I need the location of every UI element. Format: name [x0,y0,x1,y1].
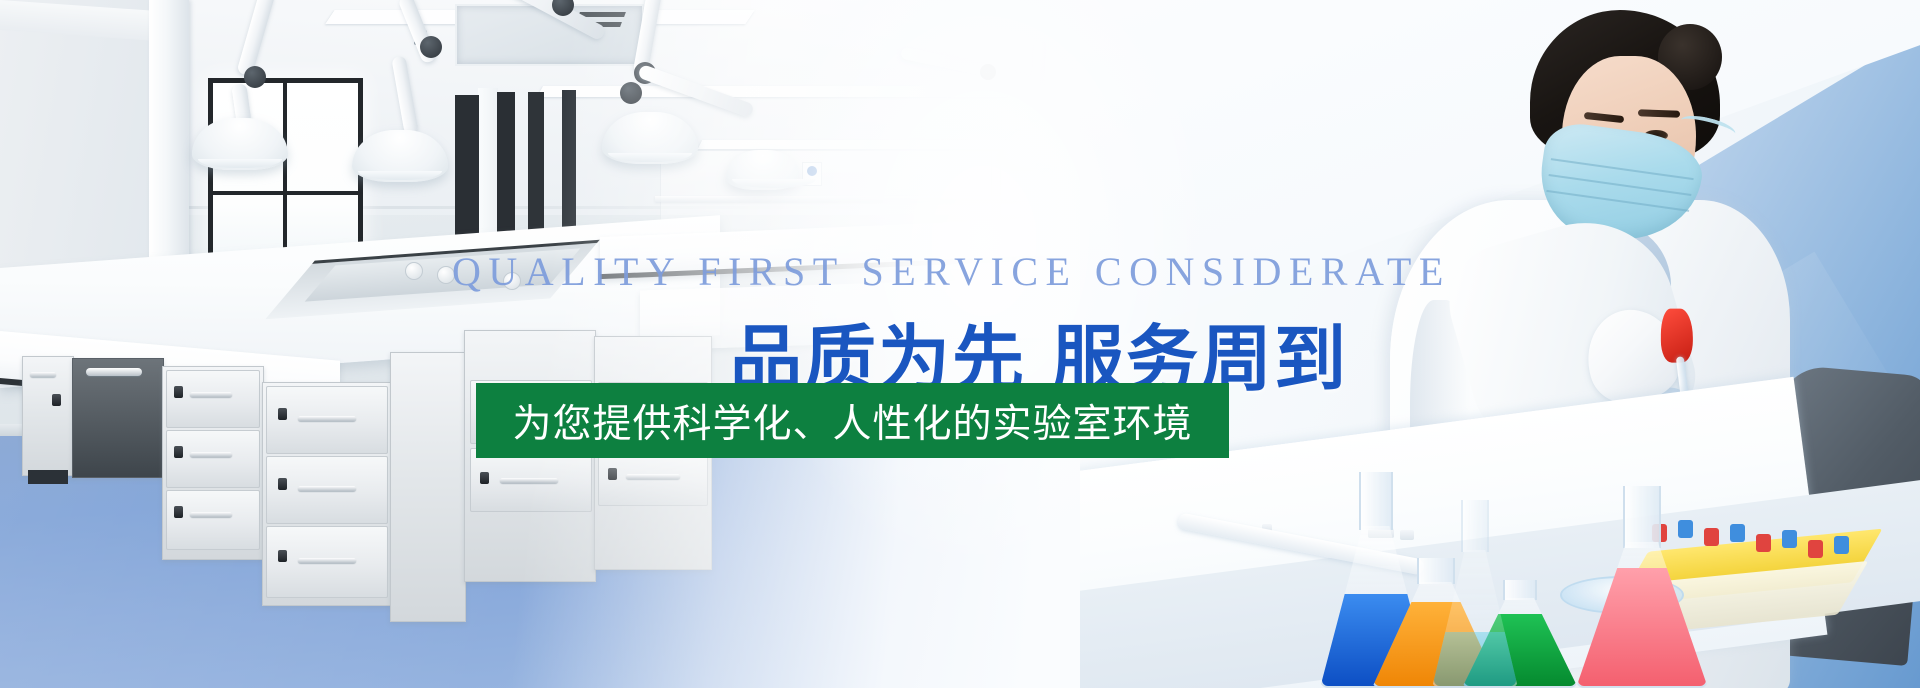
tube-cap [1808,540,1823,558]
eyebrow [1638,109,1680,117]
tube-cap [1834,536,1849,554]
pipette-bulb-icon [1661,309,1693,363]
eyebrow [1584,112,1625,123]
tube-cap [1756,534,1771,552]
flask-neck [1461,500,1489,552]
flask-liquid [1434,632,1516,686]
subtitle-text: 为您提供科学化、人性化的实验室环境 [512,393,1192,449]
flask-pink [1576,486,1708,688]
headline-english: QUALITY FIRST SERVICE CONSIDERATE [452,248,1451,295]
mask-pleat [1546,190,1689,212]
flask-teal [1432,500,1518,688]
tube-cap [1730,524,1745,542]
subtitle-green-bar: 为您提供科学化、人性化的实验室环境 [476,383,1229,458]
flask-neck [1359,472,1393,530]
flask-body [1576,542,1708,688]
hero-banner: QUALITY FIRST SERVICE CONSIDERATE 品质为先服务… [0,0,1920,688]
flask-liquid [1578,568,1706,686]
flask-neck [1623,486,1661,548]
flask-body [1432,550,1518,688]
tube-cap [1782,530,1797,548]
